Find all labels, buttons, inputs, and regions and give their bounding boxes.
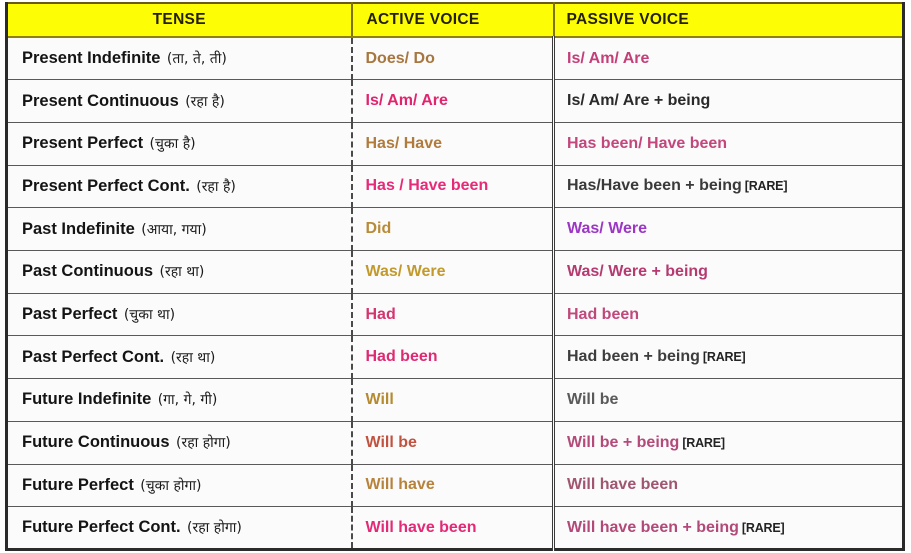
tense-name: Past Perfect Cont.	[22, 348, 164, 366]
tense-hindi: (आया, गया)	[137, 222, 207, 238]
rare-badge: [RARE]	[703, 350, 746, 364]
passive-voice-cell: Has/Have been + being[RARE]	[554, 165, 904, 208]
tense-cell: Past Indefinite (आया, गया)	[7, 208, 352, 251]
rare-badge: [RARE]	[742, 521, 785, 535]
table-row: Future Continuous (रहा होगा)Will beWill …	[7, 421, 904, 464]
passive-voice-cell: Will have been + being[RARE]	[554, 507, 904, 550]
active-voice-cell: Will have been	[352, 507, 554, 550]
passive-voice-text: Has been/ Have been	[567, 135, 727, 152]
passive-voice-text: Will have been	[567, 476, 678, 493]
passive-voice-cell: Was/ Were + being	[554, 251, 904, 294]
tense-hindi: (रहा था)	[166, 350, 215, 366]
tense-hindi: (चुका होगा)	[136, 478, 202, 494]
active-voice-cell: Has / Have been	[352, 165, 554, 208]
table-header: TENSE ACTIVE VOICE PASSIVE VOICE	[7, 3, 904, 37]
tense-hindi: (रहा था)	[155, 264, 204, 280]
tense-hindi: (चुका है)	[145, 136, 196, 152]
tense-cell: Future Indefinite (गा, गे, गी)	[7, 379, 352, 422]
passive-voice-text: Has/Have been + being	[567, 177, 742, 194]
active-voice-cell: Did	[352, 208, 554, 251]
active-voice-cell: Will be	[352, 421, 554, 464]
tense-name: Past Perfect	[22, 305, 117, 323]
tense-cell: Future Perfect Cont. (रहा होगा)	[7, 507, 352, 550]
table-row: Future Perfect (चुका होगा)Will haveWill …	[7, 464, 904, 507]
tense-name: Future Perfect	[22, 476, 134, 494]
passive-voice-text: Is/ Am/ Are + being	[567, 92, 710, 109]
passive-voice-cell: Is/ Am/ Are + being	[554, 80, 904, 123]
passive-voice-cell: Had been + being[RARE]	[554, 336, 904, 379]
passive-voice-cell: Has been/ Have been	[554, 122, 904, 165]
active-voice-cell: Had been	[352, 336, 554, 379]
tense-name: Present Perfect Cont.	[22, 177, 190, 195]
active-voice-cell: Had	[352, 293, 554, 336]
passive-voice-cell: Had been	[554, 293, 904, 336]
passive-voice-cell: Was/ Were	[554, 208, 904, 251]
active-voice-cell: Will have	[352, 464, 554, 507]
tense-voice-chart: TENSE ACTIVE VOICE PASSIVE VOICE Present…	[0, 0, 911, 553]
tense-cell: Present Continuous (रहा है)	[7, 80, 352, 123]
passive-voice-cell: Will be	[554, 379, 904, 422]
column-header-passive: PASSIVE VOICE	[554, 3, 904, 37]
active-voice-cell: Was/ Were	[352, 251, 554, 294]
table-row: Past Perfect Cont. (रहा था)Had beenHad b…	[7, 336, 904, 379]
passive-voice-cell: Will have been	[554, 464, 904, 507]
tense-hindi: (गा, गे, गी)	[153, 392, 217, 408]
tense-cell: Present Perfect (चुका है)	[7, 122, 352, 165]
active-voice-cell: Does/ Do	[352, 37, 554, 80]
header-row: TENSE ACTIVE VOICE PASSIVE VOICE	[7, 3, 904, 37]
table-row: Past Perfect (चुका था)HadHad been	[7, 293, 904, 336]
rare-badge: [RARE]	[745, 179, 788, 193]
tense-hindi: (रहा है)	[181, 94, 225, 110]
passive-voice-text: Will be	[567, 391, 618, 408]
tense-cell: Present Indefinite (ता, ते, ती)	[7, 37, 352, 80]
rare-badge: [RARE]	[682, 436, 725, 450]
table-row: Past Indefinite (आया, गया)DidWas/ Were	[7, 208, 904, 251]
tense-name: Future Continuous	[22, 433, 170, 451]
tense-name: Future Indefinite	[22, 390, 151, 408]
passive-voice-text: Was/ Were + being	[567, 263, 708, 280]
tense-cell: Present Perfect Cont. (रहा है)	[7, 165, 352, 208]
table-row: Future Indefinite (गा, गे, गी)WillWill b…	[7, 379, 904, 422]
tense-name: Present Indefinite	[22, 49, 160, 67]
tense-hindi: (ता, ते, ती)	[162, 51, 226, 67]
table-row: Present Perfect Cont. (रहा है)Has / Have…	[7, 165, 904, 208]
passive-voice-text: Will be + being	[567, 434, 679, 451]
table-row: Past Continuous (रहा था)Was/ WereWas/ We…	[7, 251, 904, 294]
table-row: Present Continuous (रहा है)Is/ Am/ AreIs…	[7, 80, 904, 123]
tense-hindi: (रहा होगा)	[172, 435, 231, 451]
tense-name: Present Continuous	[22, 92, 179, 110]
tense-hindi: (चुका था)	[119, 307, 175, 323]
tense-hindi: (रहा होगा)	[183, 520, 242, 536]
column-header-tense: TENSE	[7, 3, 352, 37]
table-row: Present Indefinite (ता, ते, ती)Does/ DoI…	[7, 37, 904, 80]
tense-cell: Past Perfect Cont. (रहा था)	[7, 336, 352, 379]
tense-name: Future Perfect Cont.	[22, 518, 181, 536]
tense-cell: Past Continuous (रहा था)	[7, 251, 352, 294]
passive-voice-text: Will have been + being	[567, 519, 739, 536]
tense-table: TENSE ACTIVE VOICE PASSIVE VOICE Present…	[5, 2, 905, 551]
tense-name: Present Perfect	[22, 134, 143, 152]
active-voice-cell: Will	[352, 379, 554, 422]
tense-cell: Future Continuous (रहा होगा)	[7, 421, 352, 464]
active-voice-cell: Is/ Am/ Are	[352, 80, 554, 123]
passive-voice-text: Had been	[567, 306, 639, 323]
column-header-active: ACTIVE VOICE	[352, 3, 554, 37]
tense-name: Past Continuous	[22, 262, 153, 280]
tense-cell: Past Perfect (चुका था)	[7, 293, 352, 336]
active-voice-cell: Has/ Have	[352, 122, 554, 165]
passive-voice-text: Had been + being	[567, 348, 700, 365]
tense-cell: Future Perfect (चुका होगा)	[7, 464, 352, 507]
tense-hindi: (रहा है)	[192, 179, 236, 195]
table-row: Present Perfect (चुका है)Has/ HaveHas be…	[7, 122, 904, 165]
table-body: Present Indefinite (ता, ते, ती)Does/ DoI…	[7, 37, 904, 550]
tense-name: Past Indefinite	[22, 220, 135, 238]
table-row: Future Perfect Cont. (रहा होगा)Will have…	[7, 507, 904, 550]
passive-voice-text: Is/ Am/ Are	[567, 50, 649, 67]
passive-voice-text: Was/ Were	[567, 220, 647, 237]
passive-voice-cell: Will be + being[RARE]	[554, 421, 904, 464]
passive-voice-cell: Is/ Am/ Are	[554, 37, 904, 80]
